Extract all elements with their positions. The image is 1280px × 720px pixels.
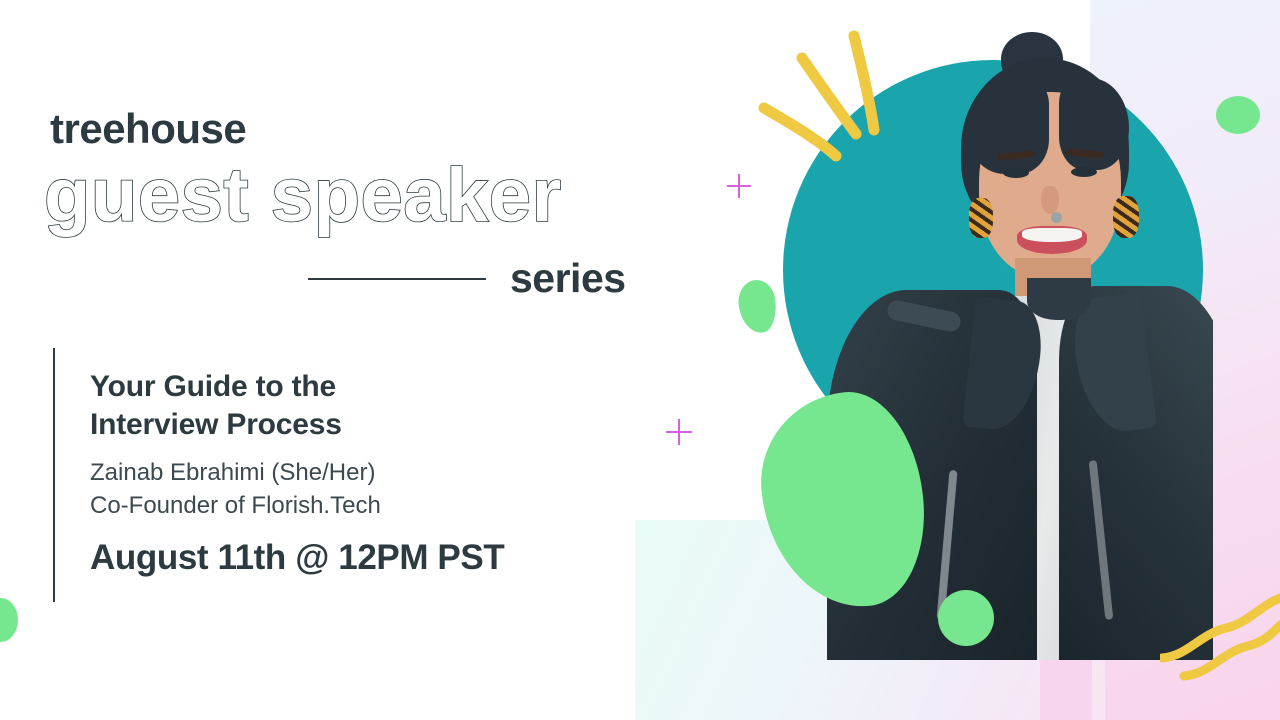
headline-outlined-text: guest speaker — [44, 158, 562, 234]
eye-right — [1071, 167, 1097, 177]
jacket-collar — [1027, 278, 1091, 320]
earring-left — [969, 198, 993, 238]
series-row: series — [308, 258, 626, 299]
yellow-burst-icon — [740, 30, 910, 195]
brand-wordmark: treehouse — [50, 108, 246, 150]
jacket-stud — [1051, 212, 1062, 223]
speaker-name: Zainab Ebrahimi (She/Her) — [90, 457, 630, 489]
green-circle-icon — [1216, 96, 1260, 134]
plus-mark-top-icon — [727, 174, 751, 198]
earring-right — [1113, 196, 1139, 238]
event-title-line-2: Interview Process — [90, 406, 630, 444]
event-datetime: August 11th @ 12PM PST — [90, 540, 630, 575]
eye-left — [1003, 168, 1029, 178]
event-info-block: Your Guide to the Interview Process Zain… — [90, 368, 630, 575]
event-title-line-1: Your Guide to the — [90, 368, 630, 406]
promo-banner: treehouse guest speaker series Your Guid… — [0, 0, 1280, 720]
speaker-role: Co-Founder of Florish.Tech — [90, 490, 630, 522]
green-blob-edge-icon — [0, 598, 18, 642]
yellow-wave-icon — [1160, 586, 1280, 687]
teeth — [1022, 228, 1082, 242]
nose — [1041, 186, 1059, 214]
series-label: series — [510, 258, 626, 299]
green-blob-small-icon — [735, 278, 779, 336]
series-divider-rule — [308, 278, 486, 280]
plus-mark-middle-icon — [666, 419, 692, 445]
event-title: Your Guide to the Interview Process — [90, 368, 630, 445]
green-circle-bottom-icon — [938, 590, 994, 646]
vertical-accent-bar — [53, 348, 55, 602]
